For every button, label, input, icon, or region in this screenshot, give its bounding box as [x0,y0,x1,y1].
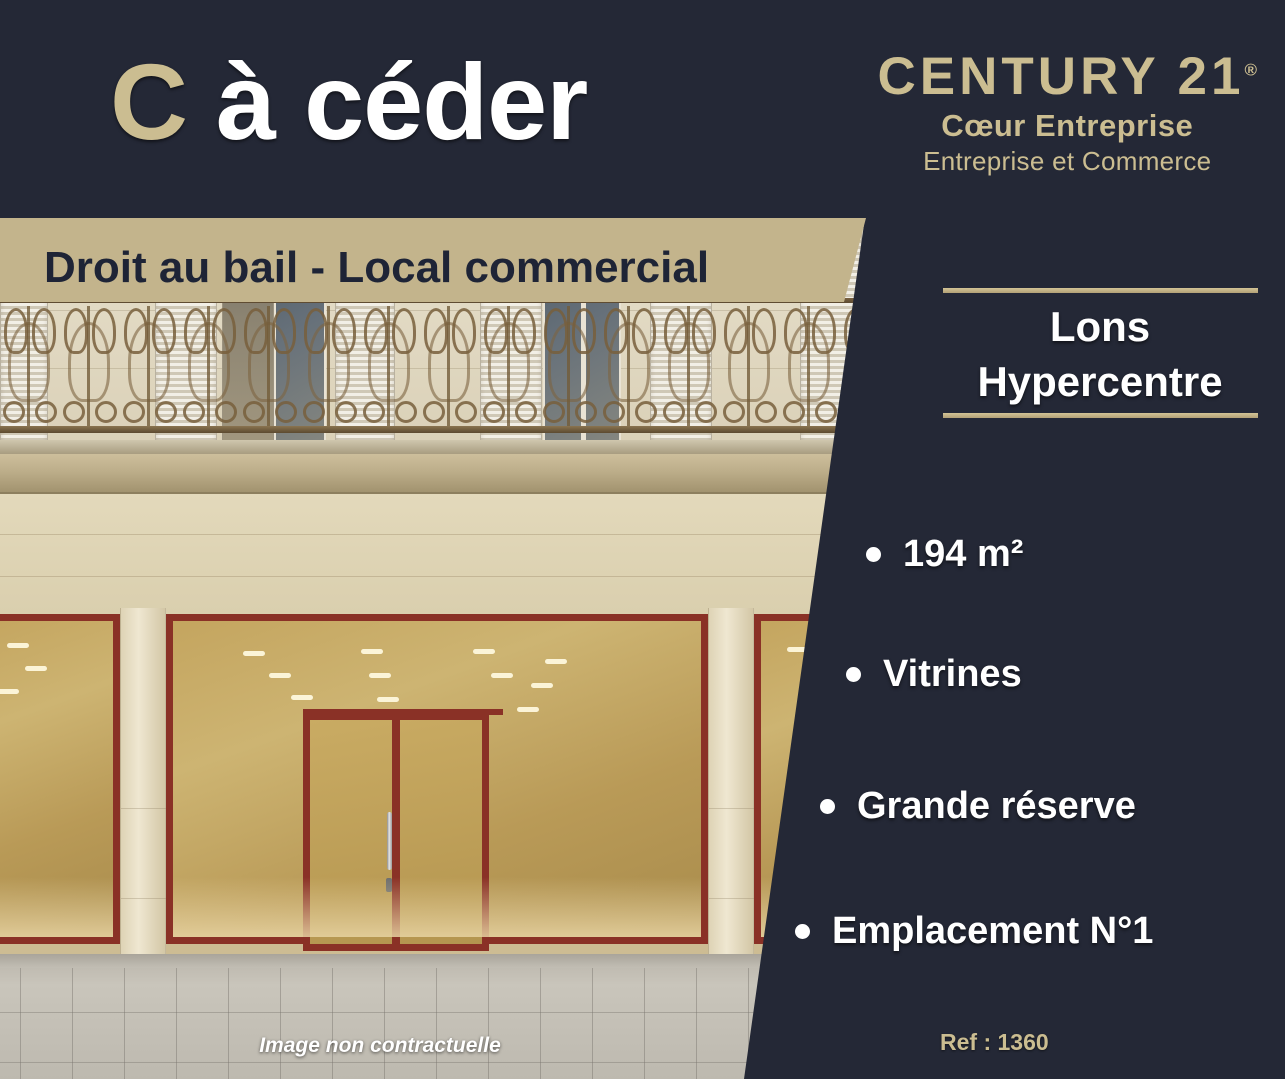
feature-item-vitrines: Vitrines [846,653,1022,696]
real-estate-listing-poster: Image non contractuelle Droit au bail - … [0,0,1285,1079]
bullet-dot-icon [846,667,861,682]
feature-label: 194 m² [903,533,1023,576]
feature-label: Vitrines [883,653,1022,696]
feature-label: Emplacement N°1 [832,910,1153,953]
feature-item-surface: 194 m² [866,533,1023,576]
bullet-dot-icon [795,924,810,939]
agency-tagline: Entreprise et Commerce [878,146,1257,177]
century21-logo: CENTURY 21® Cœur Entreprise Entreprise e… [878,50,1257,177]
page-title: C à céder [110,48,587,156]
feature-label: Grande réserve [857,785,1136,828]
brand-name: CENTURY 21® [878,50,1257,104]
feature-item-reserve: Grande réserve [820,785,1136,828]
page-title-initial: C [110,41,187,162]
feature-item-emplacement: Emplacement N°1 [795,910,1153,953]
page-title-rest: à céder [187,41,587,162]
bullet-dot-icon [866,547,881,562]
agency-name: Cœur Entreprise [878,108,1257,144]
brand-name-text: CENTURY 21 [878,47,1245,106]
registered-trademark-icon: ® [1244,60,1257,79]
bullet-dot-icon [820,799,835,814]
reference-number: Ref : 1360 [940,1029,1049,1056]
